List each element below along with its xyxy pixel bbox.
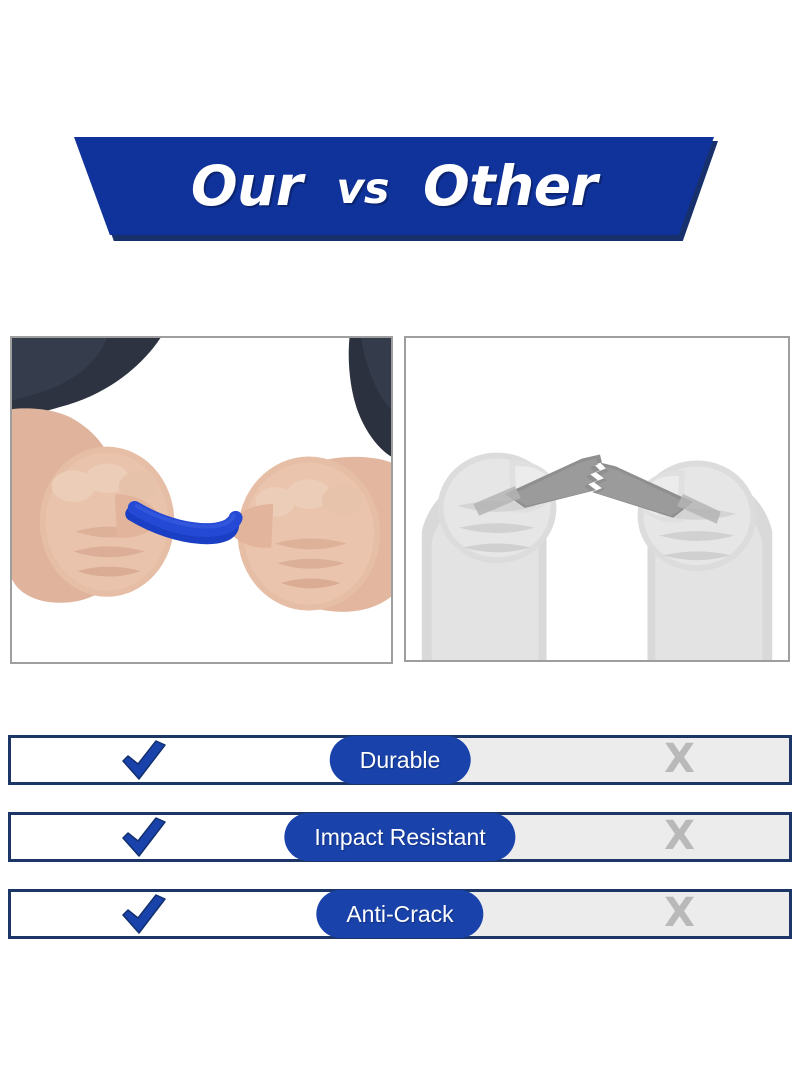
- table-row: Impact Resistant X: [8, 812, 792, 862]
- feature-pill[interactable]: Durable: [330, 736, 471, 784]
- check-icon: [121, 739, 167, 781]
- cross-icon: X: [664, 893, 695, 933]
- photo-panel-other: [404, 336, 790, 662]
- our-product-photo: [12, 338, 391, 662]
- feature-pill[interactable]: Anti-Crack: [316, 890, 483, 938]
- comparison-photo-row: [0, 336, 800, 666]
- banner-title: Our vs Other: [74, 137, 714, 235]
- banner-word-our: Our: [191, 159, 303, 214]
- feature-pill[interactable]: Impact Resistant: [284, 813, 515, 861]
- photo-panel-our: [10, 336, 393, 664]
- feature-comparison-list: Durable X Impact Resistant X Anti-Crack …: [0, 735, 800, 966]
- table-row: Anti-Crack X: [8, 889, 792, 939]
- cross-icon: X: [664, 739, 695, 779]
- table-row: Durable X: [8, 735, 792, 785]
- check-icon: [121, 816, 167, 858]
- other-product-photo: [406, 338, 788, 660]
- banner-word-other: Other: [423, 159, 597, 214]
- header-banner: Our vs Other: [0, 134, 800, 249]
- banner-word-vs: vs: [336, 168, 389, 211]
- check-icon: [121, 893, 167, 935]
- cross-icon: X: [664, 816, 695, 856]
